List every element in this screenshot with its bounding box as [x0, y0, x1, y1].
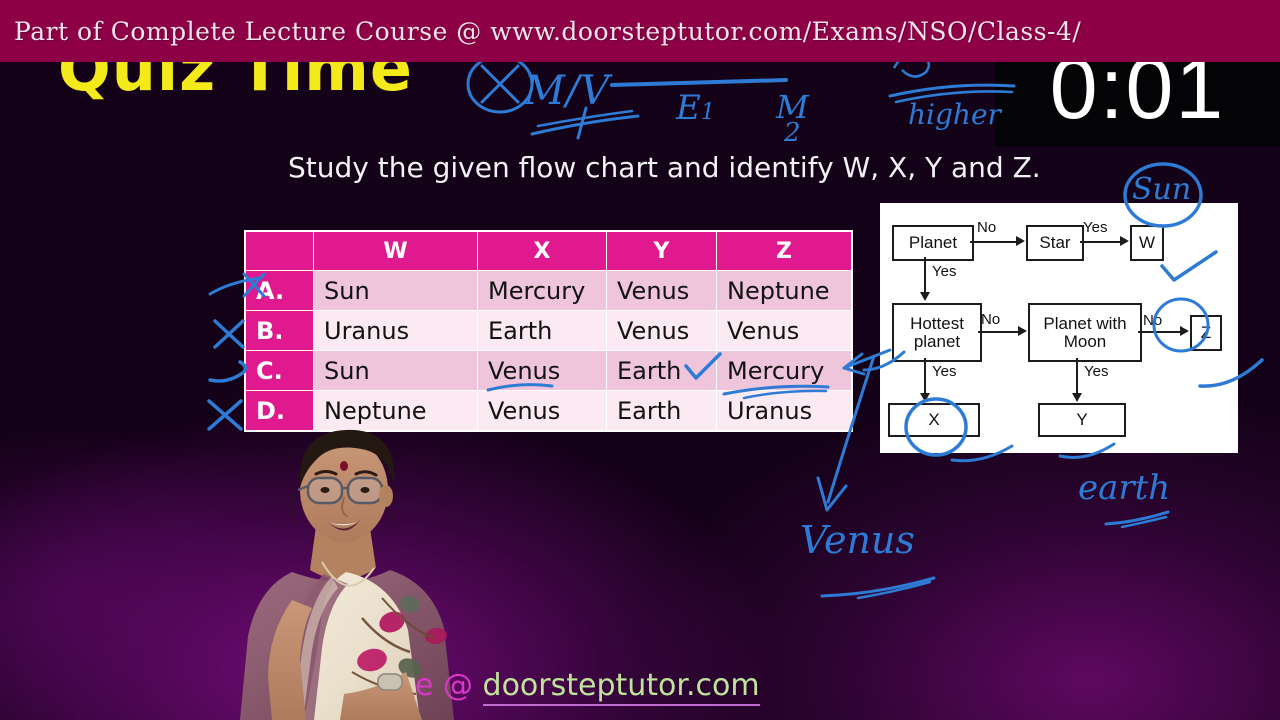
table-row[interactable]: A. Sun Mercury Venus Neptune	[246, 271, 852, 311]
cell-d-z: Uranus	[717, 391, 852, 431]
arrowhead-planet-star	[1016, 236, 1025, 246]
arrowhead-hottest-moon	[1018, 326, 1027, 336]
edge-label-hottest-x: Yes	[932, 363, 956, 380]
flow-node-hottest-line2: planet	[914, 333, 960, 350]
watermark-prefix: e @	[415, 668, 483, 703]
cell-a-y: Venus	[607, 271, 717, 311]
column-header-x: X	[478, 232, 607, 271]
edge-label-moon-z: No	[1143, 312, 1162, 329]
question-text: Study the given flow chart and identify …	[288, 150, 1068, 185]
flow-node-hottest-line1: Hottest	[910, 315, 964, 332]
column-header-blank	[246, 232, 314, 271]
arrowhead-planet-hottest	[920, 292, 930, 301]
option-label-c: C.	[246, 351, 314, 391]
cell-a-z: Neptune	[717, 271, 852, 311]
table-header-row: W X Y Z	[246, 232, 852, 271]
flow-node-planet: Planet	[892, 225, 974, 261]
cell-a-w: Sun	[314, 271, 478, 311]
flow-node-moon-line1: Planet with	[1043, 315, 1126, 332]
column-header-y: Y	[607, 232, 717, 271]
edge-planet-hottest	[924, 257, 926, 294]
flow-node-w: W	[1130, 225, 1164, 261]
edge-label-planet-hottest: Yes	[932, 263, 956, 280]
edge-moon-z	[1138, 331, 1182, 333]
edge-hottest-x	[924, 358, 926, 395]
table-row[interactable]: C. Sun Venus Earth Mercury	[246, 351, 852, 391]
flow-node-planet-with-moon: Planet with Moon	[1028, 303, 1142, 362]
cell-c-y: Earth	[607, 351, 717, 391]
flow-chart-image: Planet No Star Yes W Yes Hottest planet …	[880, 203, 1238, 453]
option-label-b: B.	[246, 311, 314, 351]
arrowhead-hottest-x	[920, 393, 930, 402]
edge-label-moon-y: Yes	[1084, 363, 1108, 380]
cell-a-x: Mercury	[478, 271, 607, 311]
flow-node-y: Y	[1038, 403, 1126, 437]
cell-c-z: Mercury	[717, 351, 852, 391]
course-banner-text: Part of Complete Lecture Course @ www.do…	[0, 17, 1081, 46]
flow-node-star: Star	[1026, 225, 1084, 261]
cell-b-w: Uranus	[314, 311, 478, 351]
column-header-z: Z	[717, 232, 852, 271]
arrowhead-moon-y	[1072, 393, 1082, 402]
column-header-w: W	[314, 232, 478, 271]
arrowhead-moon-z	[1180, 326, 1189, 336]
watermark: e @ doorsteptutor.com	[415, 668, 760, 703]
cell-d-x: Venus	[478, 391, 607, 431]
course-banner: Part of Complete Lecture Course @ www.do…	[0, 0, 1280, 62]
flow-node-z: Z	[1190, 315, 1222, 351]
edge-moon-y	[1076, 358, 1078, 395]
cell-c-w: Sun	[314, 351, 478, 391]
options-table: W X Y Z A. Sun Mercury Venus Neptune B. …	[245, 231, 852, 431]
flow-node-x: X	[888, 403, 980, 437]
flow-node-hottest-planet: Hottest planet	[892, 303, 982, 362]
edge-label-star-w: Yes	[1083, 219, 1107, 236]
cell-b-z: Venus	[717, 311, 852, 351]
watermark-link[interactable]: doorsteptutor.com	[483, 668, 760, 706]
edge-hottest-moon	[978, 331, 1020, 333]
cell-d-y: Earth	[607, 391, 717, 431]
cell-b-x: Earth	[478, 311, 607, 351]
table-row[interactable]: B. Uranus Earth Venus Venus	[246, 311, 852, 351]
cell-c-x: Venus	[478, 351, 607, 391]
slide-stage: Quiz Time 0:01 Part of Complete Lecture …	[0, 0, 1280, 720]
cell-b-y: Venus	[607, 311, 717, 351]
edge-label-hottest-moon: No	[981, 311, 1000, 328]
arrowhead-star-w	[1120, 236, 1129, 246]
flow-node-moon-line2: Moon	[1064, 333, 1107, 350]
edge-star-w	[1080, 241, 1122, 243]
edge-planet-star	[970, 241, 1018, 243]
edge-label-planet-star: No	[977, 219, 996, 236]
option-label-a: A.	[246, 271, 314, 311]
